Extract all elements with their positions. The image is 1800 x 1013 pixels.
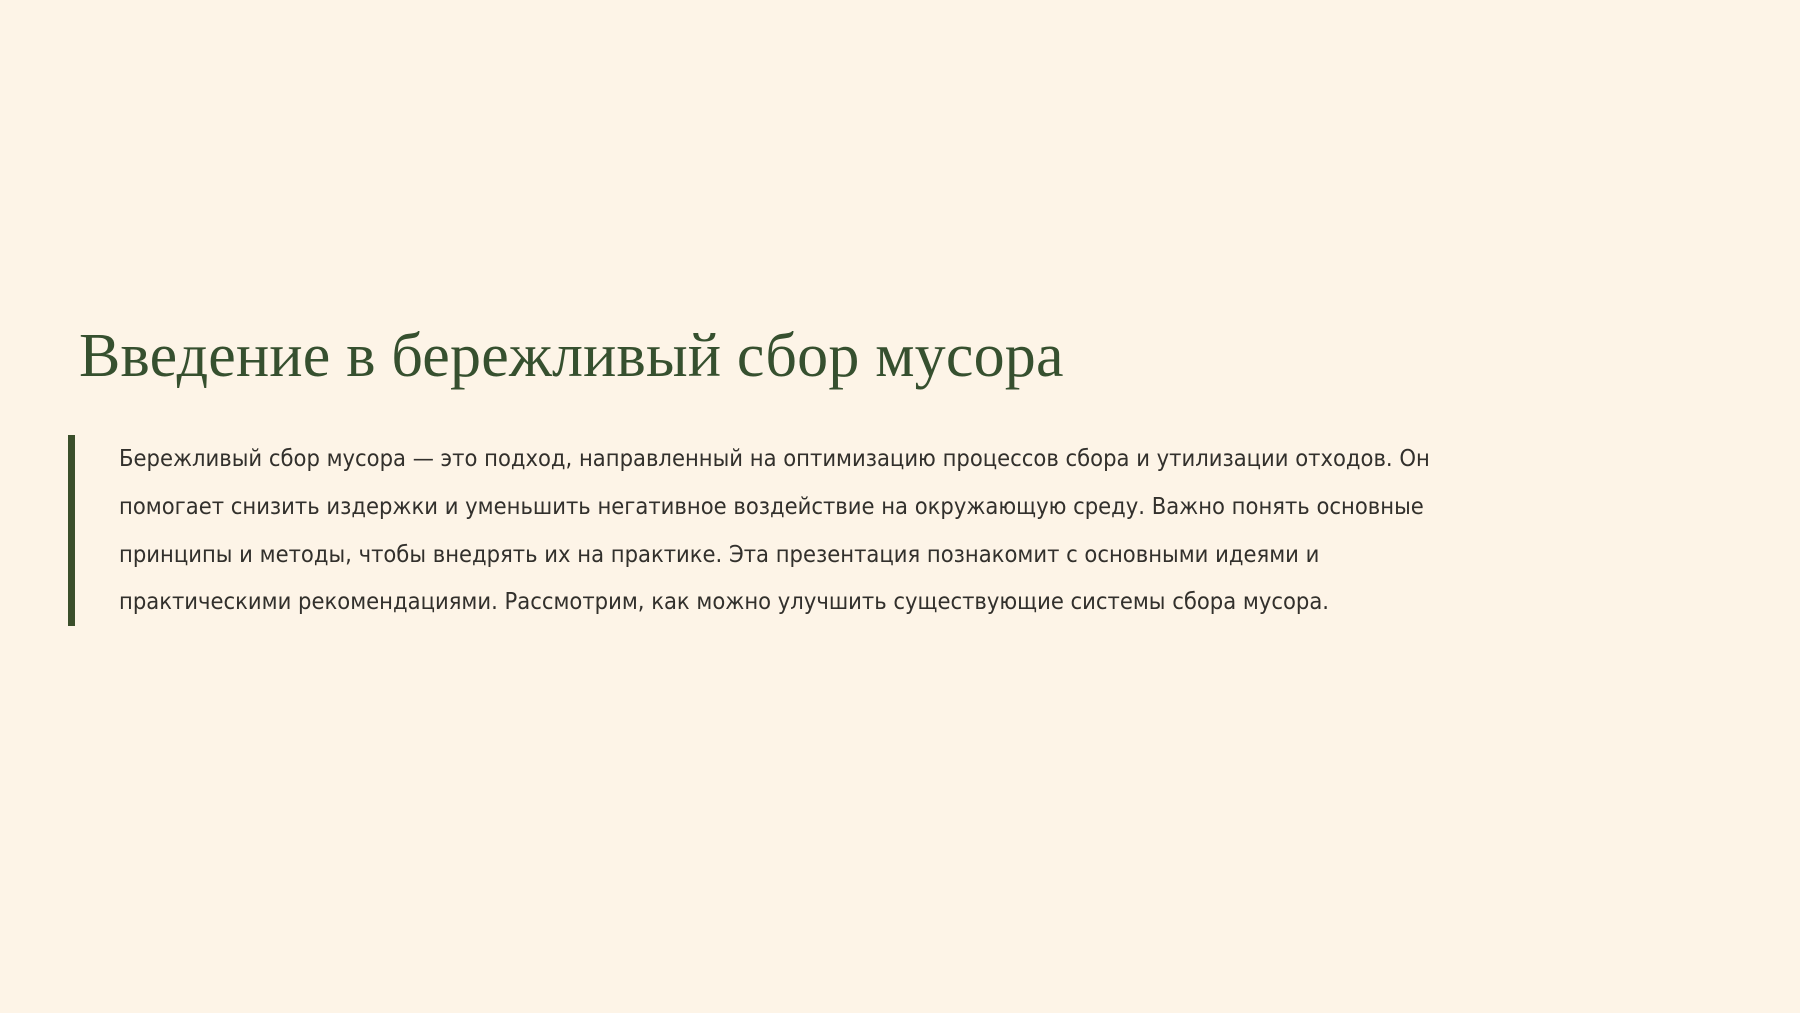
accent-bar <box>68 435 75 626</box>
presentation-slide: Введение в бережливый сбор мусора Бережл… <box>0 0 1800 1013</box>
body-callout-block: Бережливый сбор мусора — это подход, нап… <box>68 435 1488 626</box>
page-title: Введение в бережливый сбор мусора <box>79 322 1579 391</box>
body-paragraph: Бережливый сбор мусора — это подход, нап… <box>75 435 1488 626</box>
